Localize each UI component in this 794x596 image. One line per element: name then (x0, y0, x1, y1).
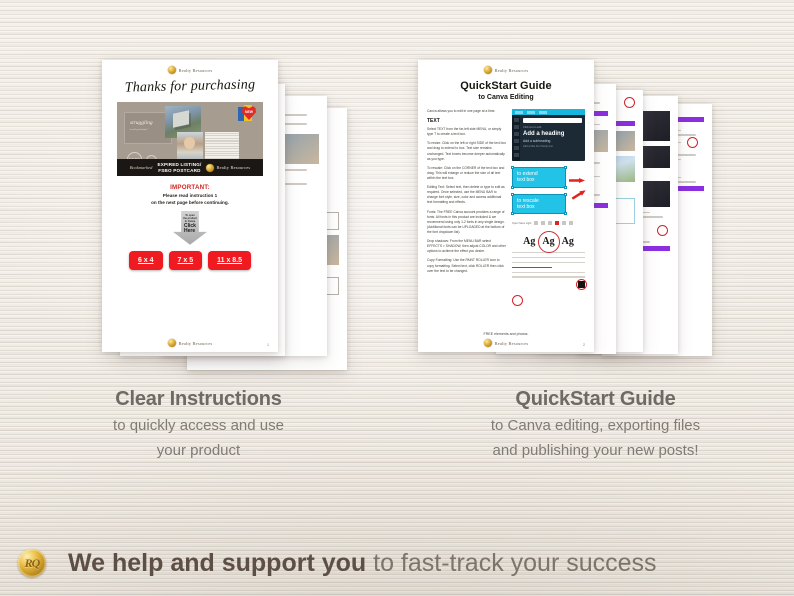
canva-toolbar (512, 109, 585, 115)
size-button-row[interactable]: 6 x 4 7 x 5 11 x 8.5 (111, 251, 269, 270)
important-heading: IMPORTANT: (111, 184, 269, 191)
gold-coin-icon (484, 339, 492, 347)
arrow-big-label: ClickHere (184, 224, 196, 235)
gold-coin-icon (168, 66, 176, 74)
caption-line: your product (0, 440, 397, 461)
guide-intro: Canva allows you to edit in one page at … (427, 109, 506, 114)
new-badge-icon: NEW (238, 105, 258, 123)
canva-search-field[interactable] (523, 118, 582, 123)
canva-add-body-text[interactable]: Add a little bit of body text (523, 145, 585, 148)
red-circle-highlight (576, 279, 587, 290)
realty-resources-logo: Realty Resources (111, 66, 269, 74)
gold-coin-icon (206, 164, 214, 172)
red-arrow-icon (569, 178, 585, 183)
effects-panel-rows (512, 252, 585, 278)
red-circle-highlight (538, 231, 560, 253)
left-document-stack[interactable]: Realty Resources Thanks for purchasing s… (92, 60, 352, 370)
caption-line: to Canva editing, exporting files (397, 415, 794, 436)
banner-rest-text: to fast-track your success (366, 549, 656, 577)
document-footer: Realty Resources (102, 339, 278, 347)
guide-paragraph: To rescale: Click on the CORNER of the t… (427, 166, 506, 181)
gold-coin-logo-icon: RQ (18, 549, 46, 577)
arrow-small-label: To openthe productin Canva (183, 214, 197, 223)
gold-coin-icon (168, 339, 176, 347)
guide-paragraph: Editing Text: Select text, then delete o… (427, 185, 506, 205)
support-banner: RQ We help and support you to fast-track… (0, 530, 794, 596)
guide-paragraph: Drop shadows: From the MENU BAR select E… (427, 239, 506, 254)
canva-panel-label: Click text to edit (523, 126, 585, 129)
guide-figure-column: Click text to edit Add a heading Add a s… (512, 109, 585, 288)
brand-name: Realty Resources (495, 68, 529, 73)
size-button-11x85[interactable]: 11 x 8.5 (208, 251, 251, 270)
footer-brand: Realty Resources (179, 341, 213, 346)
canva-add-heading[interactable]: Add a heading (523, 131, 582, 137)
page-number: 2 (583, 343, 585, 347)
product-mockup-image: struggling to sell your home? NEW 5 SIZE… (117, 102, 263, 176)
page-title: QuickStart Guide (427, 80, 585, 92)
red-arrow-icon (571, 188, 587, 201)
document-footer: Realty Resources (418, 339, 594, 347)
caption-clear-instructions: Clear Instructions to quickly access and… (0, 388, 397, 462)
page-subtitle: to Canva Editing (427, 94, 585, 101)
important-body: Please read instruction 1on the next pag… (111, 193, 269, 207)
caption-line: and publishing your new posts! (397, 440, 794, 461)
right-document-stack[interactable]: Realty Resources QuickStart Guide to Can… (418, 60, 718, 370)
important-notice: IMPORTANT: Please read instruction 1on t… (111, 184, 269, 207)
mockup-script-word: Bookmarked (130, 165, 153, 170)
guide-paragraph: Select TEXT from the far-left side MENU,… (427, 127, 506, 137)
page-title: Thanks for purchasing (111, 77, 269, 97)
mockup-caption-bar: Bookmarked EXPIRED LISTING/FSBO POSTCARD… (117, 159, 263, 176)
canva-text-panel-screenshot: Click text to edit Add a heading Add a s… (512, 109, 585, 161)
guide-paragraph: To resize: Click on the left or right SI… (427, 141, 506, 161)
canva-side-rail (512, 115, 520, 161)
feature-captions: Clear Instructions to quickly access and… (0, 388, 794, 462)
font-sample-row: Ag Ag Ag (512, 236, 585, 247)
canva-add-subheading[interactable]: Add a subheading (523, 139, 585, 143)
annotation-rescale-text-box: to rescaletext box (512, 194, 566, 215)
font-sample: Ag (562, 236, 574, 247)
footer-brand: Realty Resources (495, 341, 529, 346)
red-circle-highlight (624, 97, 635, 108)
click-here-arrow[interactable]: To openthe productin Canva ClickHere (173, 211, 207, 245)
guide-section-heading: TEXT (427, 118, 506, 124)
annotation-extend-text-box: to extendtext box (512, 167, 566, 188)
caption-line: to quickly access and use (0, 415, 397, 436)
caption-heading: Clear Instructions (0, 388, 397, 411)
mockup-product-name: EXPIRED LISTING/FSBO POSTCARD (157, 162, 201, 173)
banner-bold-text: We help and support you (68, 549, 366, 577)
caption-quickstart-guide: QuickStart Guide to Canva editing, expor… (397, 388, 794, 462)
red-circle-highlight (512, 295, 523, 306)
thanks-for-purchasing-page[interactable]: Realty Resources Thanks for purchasing s… (102, 60, 278, 352)
font-sample: Ag (523, 236, 535, 247)
red-circle-highlight (687, 137, 698, 148)
guide-paragraph: Fonts: The FREE Canva account provides a… (427, 210, 506, 236)
canva-font-toolbar[interactable]: Open Sans Light (512, 220, 585, 226)
mockup-brand: Realty Resources (206, 164, 250, 172)
size-button-6x4[interactable]: 6 x 4 (129, 251, 163, 270)
guide-footnote: FREE elements and photos. (418, 332, 594, 336)
gold-coin-icon (484, 66, 492, 74)
banner-text: We help and support you to fast-track yo… (68, 549, 657, 578)
brand-name: Realty Resources (179, 68, 213, 73)
page-number: 1 (267, 343, 269, 347)
font-name-label: Open Sans Light (512, 222, 531, 225)
realty-resources-logo: Realty Resources (427, 66, 585, 74)
coin-monogram: RQ (25, 556, 40, 571)
caption-heading: QuickStart Guide (397, 388, 794, 411)
guide-text-column: Canva allows you to edit in one page at … (427, 109, 506, 288)
guide-paragraph: Copy Formatting: Use the PAINT ROLLER ic… (427, 258, 506, 273)
size-button-7x5[interactable]: 7 x 5 (169, 251, 203, 270)
quickstart-guide-page[interactable]: Realty Resources QuickStart Guide to Can… (418, 60, 594, 352)
